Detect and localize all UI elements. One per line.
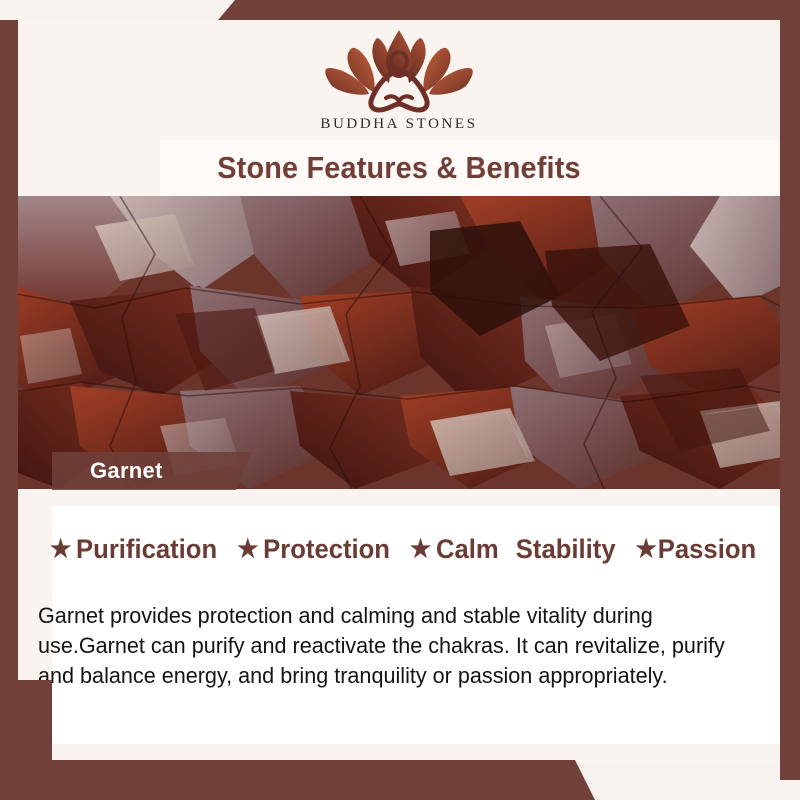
page-title: Stone Features & Benefits: [45, 140, 754, 196]
frame-left-lower-block: [0, 680, 52, 760]
benefit-item-purification: ★ Purification: [50, 534, 217, 565]
benefit-item-stability: Stability: [516, 534, 616, 565]
star-icon: ★: [237, 537, 258, 562]
benefit-item-protection: ★ Protection: [237, 534, 390, 565]
star-icon: ★: [410, 537, 431, 562]
star-icon: ★: [50, 537, 71, 562]
frame-bottom-border: [0, 760, 615, 800]
benefit-label: Stability: [516, 534, 616, 565]
benefit-label: Purification: [76, 534, 217, 565]
product-info-poster: BUDDHA STONES Stone Features & Benefits: [0, 0, 800, 800]
star-icon: ★: [636, 537, 657, 562]
benefit-label: Protection: [263, 534, 390, 565]
stone-description: Garnet provides protection and calming a…: [38, 601, 731, 691]
benefit-label: Calm: [436, 534, 499, 565]
brand-logo-area: BUDDHA STONES: [18, 20, 780, 140]
frame-left-border: [0, 20, 18, 762]
benefit-item-passion: ★ Passion: [636, 534, 757, 565]
benefits-list: ★ Purification ★ Protection ★ Calm Stabi…: [50, 528, 725, 570]
frame-top-border: [218, 0, 800, 20]
stone-name-tag: Garnet: [52, 452, 252, 490]
lotus-meditation-icon: [324, 28, 474, 114]
benefit-label: Passion: [658, 534, 756, 565]
frame-right-border: [780, 0, 800, 780]
benefit-item-calm: ★ Calm: [410, 534, 499, 565]
garnet-rough-crystals-photo: [0, 196, 800, 489]
brand-wordmark: BUDDHA STONES: [320, 116, 477, 133]
stone-name-label: Garnet: [90, 458, 163, 484]
